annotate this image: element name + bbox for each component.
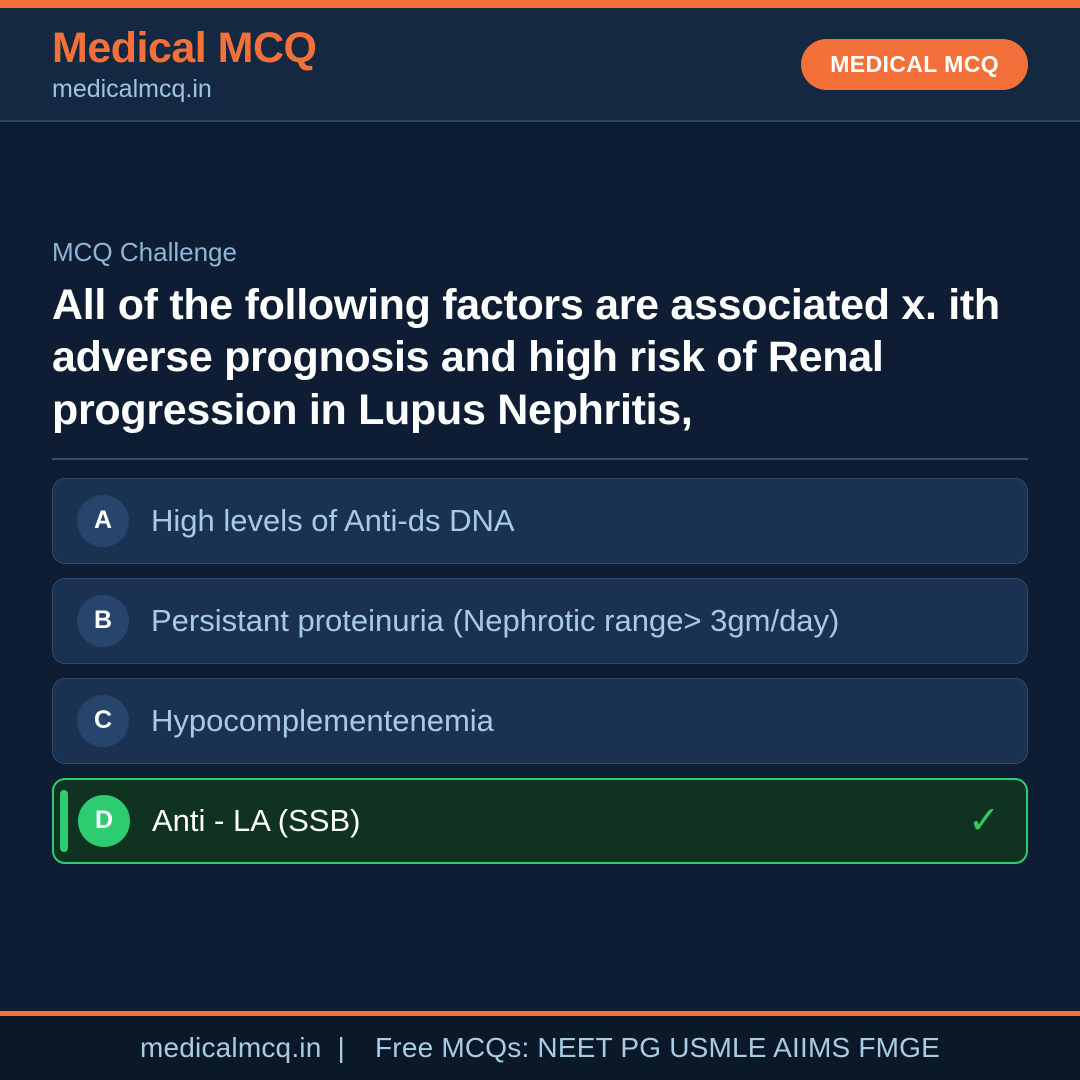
brand-block: Medical MCQ medicalmcq.in: [52, 27, 317, 102]
option-letter-badge: B: [77, 595, 129, 647]
brand-title: Medical MCQ: [52, 27, 317, 70]
option-letter-badge: C: [77, 695, 129, 747]
bottom-spacer: [52, 864, 1028, 1011]
top-spacer: [52, 122, 1028, 238]
option-letter-badge: A: [77, 495, 129, 547]
question-text: All of the following factors are associa…: [52, 279, 1002, 436]
option-b[interactable]: B Persistant proteinuria (Nephrotic rang…: [52, 578, 1028, 664]
brand-url: medicalmcq.in: [52, 77, 317, 102]
correct-accent-bar: [60, 790, 68, 852]
option-a[interactable]: A High levels of Anti-ds DNA: [52, 478, 1028, 564]
page-footer: medicalmcq.in|Free MCQs: NEET PG USMLE A…: [0, 1011, 1080, 1080]
footer-site: medicalmcq.in: [140, 1032, 322, 1063]
option-d-correct[interactable]: D Anti - LA (SSB) ✓: [52, 778, 1028, 864]
header-badge: MEDICAL MCQ: [801, 39, 1028, 90]
option-text: Persistant proteinuria (Nephrotic range>…: [151, 602, 965, 640]
page-header: Medical MCQ medicalmcq.in MEDICAL MCQ: [0, 8, 1080, 122]
top-accent-bar: [0, 0, 1080, 8]
checkmark-icon: ✓: [964, 802, 1004, 840]
section-kicker: MCQ Challenge: [52, 238, 1028, 267]
option-letter-badge: D: [78, 795, 130, 847]
option-text: Anti - LA (SSB): [152, 802, 964, 840]
option-text: Hypocomplementenemia: [151, 702, 965, 740]
option-c[interactable]: C Hypocomplementenemia: [52, 678, 1028, 764]
mcq-card: Medical MCQ medicalmcq.in MEDICAL MCQ MC…: [0, 0, 1080, 1080]
footer-tagline: Free MCQs: NEET PG USMLE AIIMS FMGE: [361, 1032, 940, 1063]
option-text: High levels of Anti-ds DNA: [151, 502, 965, 540]
options-list: A High levels of Anti-ds DNA B Persistan…: [52, 478, 1028, 864]
main-content: MCQ Challenge All of the following facto…: [0, 122, 1080, 1011]
footer-separator: |: [322, 1032, 361, 1063]
footer-text-row: medicalmcq.in|Free MCQs: NEET PG USMLE A…: [140, 1032, 940, 1064]
question-divider: [52, 458, 1028, 460]
